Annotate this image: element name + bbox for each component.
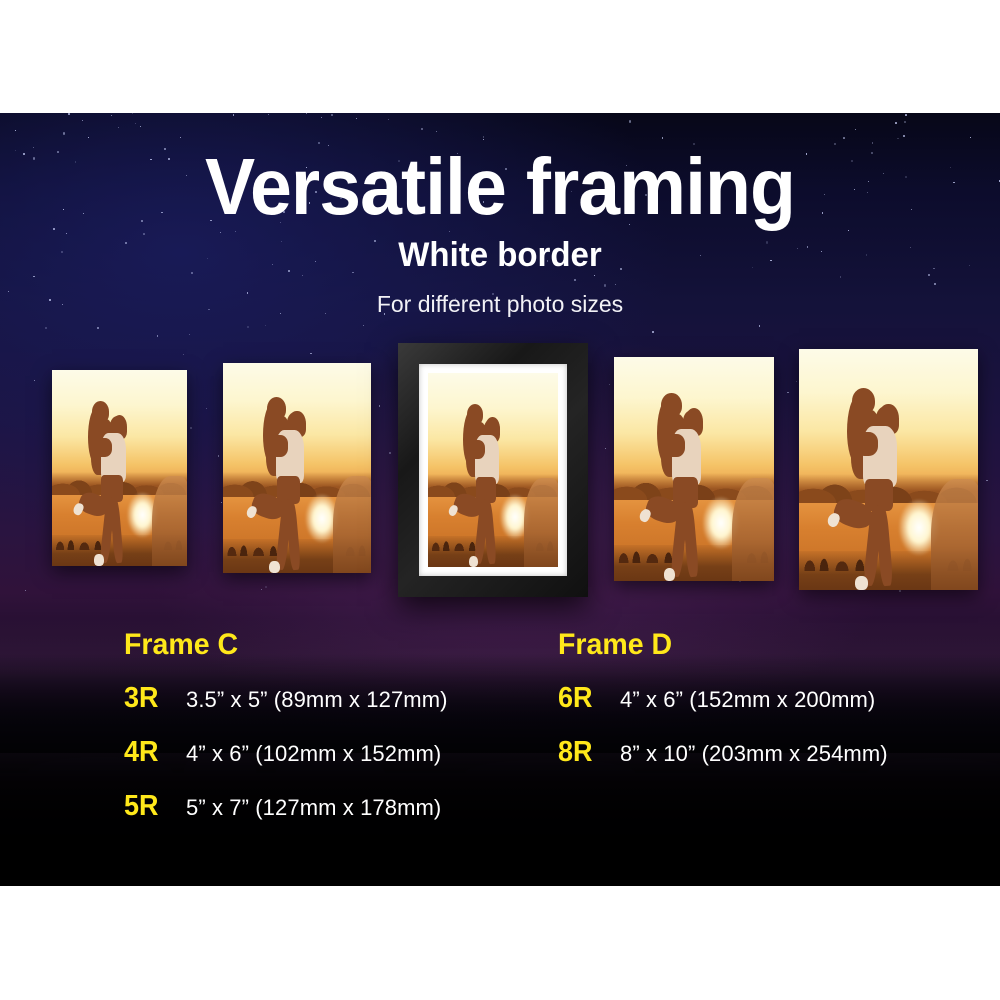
frame-thumbnail-6r[interactable] — [614, 357, 774, 581]
couple-silhouette — [636, 393, 729, 581]
spec-row: 6R 4” x 6” (152mm x 200mm) — [558, 682, 978, 715]
spec-code: 8R — [558, 736, 616, 768]
spec-code: 4R — [124, 736, 182, 768]
page-subtitle: White border — [15, 235, 985, 275]
spec-row: 3R 3.5” x 5” (89mm x 127mm) — [124, 682, 544, 715]
background-object-silhouette — [931, 479, 978, 590]
page-tagline: For different photo sizes — [0, 289, 1000, 319]
sunset-couple-photo — [799, 349, 978, 590]
spec-code: 6R — [558, 682, 616, 714]
couple-silhouette — [824, 388, 928, 590]
spec-code: 3R — [124, 682, 182, 714]
sunset-couple-photo — [223, 363, 371, 573]
spec-row: 5R 5” x 7” (127mm x 178mm) — [124, 790, 544, 823]
spec-size: 8” x 10” (203mm x 254mm) — [620, 739, 888, 769]
background-object-silhouette — [524, 478, 558, 567]
sunset-couple-photo — [52, 370, 187, 566]
white-mat-border — [419, 364, 567, 576]
background-object-silhouette — [152, 476, 187, 566]
couple-silhouette — [71, 401, 149, 566]
spec-code: 5R — [124, 790, 182, 822]
heading-block: Versatile framing White border For diffe… — [0, 145, 1000, 319]
couple-silhouette — [244, 397, 330, 573]
product-banner: Versatile framing White border For diffe… — [0, 0, 1000, 1000]
mat-window — [428, 373, 558, 567]
couple-silhouette — [446, 404, 521, 567]
frame-thumbnail-8r[interactable] — [799, 349, 978, 590]
spec-column-frame-d: Frame D 6R 4” x 6” (152mm x 200mm) 8R 8”… — [558, 628, 978, 790]
frame-thumbnail-3r[interactable] — [52, 370, 187, 566]
spec-size: 3.5” x 5” (89mm x 127mm) — [186, 685, 448, 715]
spec-heading-frame-d: Frame D — [558, 628, 957, 662]
sunset-couple-photo — [614, 357, 774, 581]
spec-size: 4” x 6” (152mm x 200mm) — [620, 685, 875, 715]
spec-row: 4R 4” x 6” (102mm x 152mm) — [124, 736, 544, 769]
spec-column-frame-c: Frame C 3R 3.5” x 5” (89mm x 127mm) 4R 4… — [124, 628, 544, 844]
spec-row: 8R 8” x 10” (203mm x 254mm) — [558, 736, 978, 769]
spec-size: 4” x 6” (102mm x 152mm) — [186, 739, 441, 769]
background-object-silhouette — [333, 476, 371, 573]
frame-thumbnail-4r[interactable] — [223, 363, 371, 573]
spec-size: 5” x 7” (127mm x 178mm) — [186, 793, 441, 823]
background-object-silhouette — [732, 478, 774, 581]
page-title: Versatile framing — [30, 145, 970, 229]
spec-heading-frame-c: Frame C — [124, 628, 523, 662]
sunset-couple-photo — [428, 373, 558, 567]
framed-photo-center[interactable] — [398, 343, 588, 597]
